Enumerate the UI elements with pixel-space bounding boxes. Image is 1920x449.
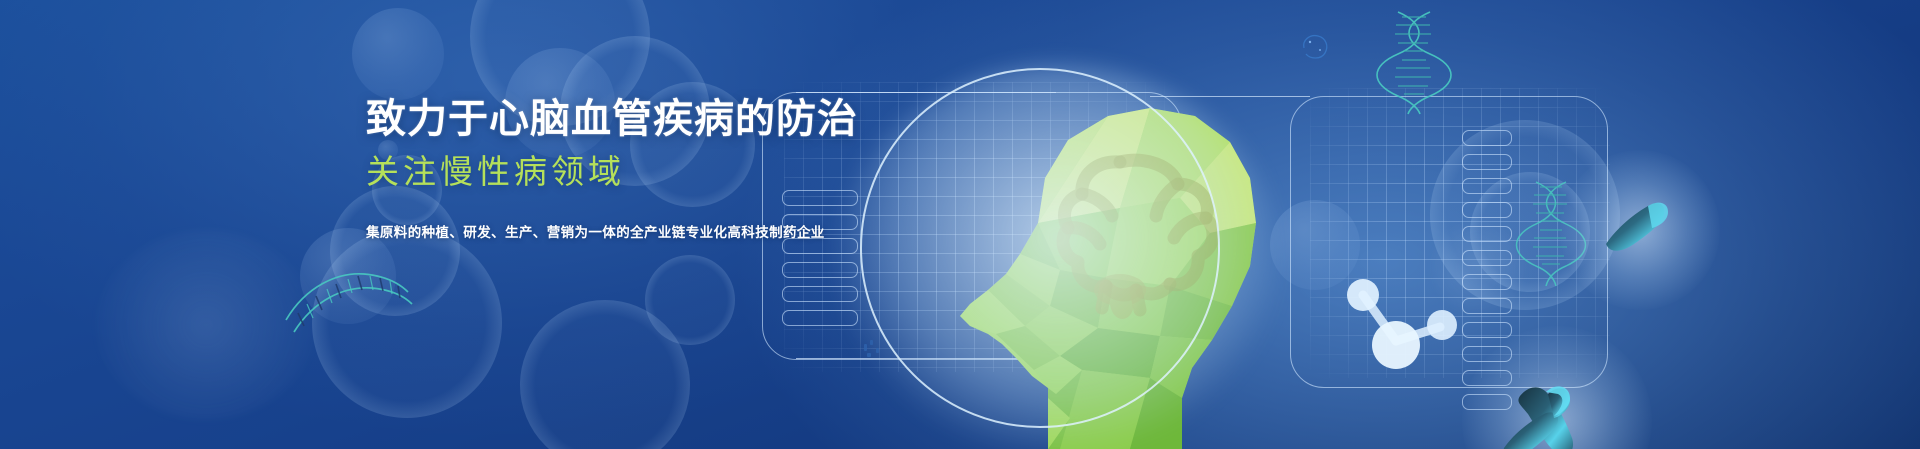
molecule-icon <box>1330 275 1480 395</box>
hud-top-line <box>796 92 1056 93</box>
title-highlight: 心脑血管疾病 <box>489 97 735 141</box>
low-poly-head-graphic <box>820 58 1340 449</box>
hud-bar <box>1462 274 1512 290</box>
head-orbit-ring <box>860 68 1220 428</box>
hud-top-line <box>1150 96 1310 97</box>
bokeh-circle <box>300 228 396 324</box>
particle-cluster-top <box>1296 30 1336 70</box>
hud-bar <box>1462 130 1512 146</box>
hud-bar <box>1462 226 1512 242</box>
chromosome-cell-upper <box>1560 150 1720 310</box>
hud-bar <box>1462 202 1512 218</box>
hud-bar <box>782 310 858 326</box>
dna-icon <box>1380 8 1450 118</box>
head-glow <box>838 64 1278 449</box>
molecule-node <box>1372 321 1420 369</box>
cell-glow <box>1560 150 1720 310</box>
chromosome-icon <box>1462 326 1652 449</box>
dna-helix-cell-left <box>1512 178 1572 288</box>
hud-bar <box>1462 298 1512 314</box>
page-title: 致力于心脑血管疾病的防治 <box>366 96 858 142</box>
hud-bar <box>1462 250 1512 266</box>
hero-banner: 致力于心脑血管疾病的防治 关注慢性病领域 集原料的种植、研发、生产、营销为一体的… <box>0 0 1920 449</box>
cell-glow <box>1462 326 1652 449</box>
bokeh-circle <box>1430 120 1620 310</box>
hud-bar <box>1462 154 1512 170</box>
hud-bar <box>782 262 858 278</box>
brain-overlay <box>1063 160 1213 310</box>
hud-bar <box>1462 370 1512 386</box>
bokeh-circle <box>520 300 690 449</box>
hud-bar <box>1462 394 1512 410</box>
hud-bar <box>1462 322 1512 338</box>
hud-bar-list <box>1462 130 1512 418</box>
dna-helix-bottom-left <box>282 258 412 338</box>
molecule-node <box>1347 279 1379 311</box>
bokeh-circle <box>352 8 444 100</box>
particle-cluster-bottom <box>858 330 898 370</box>
chromosome-cell-lower <box>1462 326 1652 449</box>
bokeh-circle <box>1270 200 1360 290</box>
bokeh-circle <box>1470 172 1590 292</box>
molecule-graphic <box>1330 275 1480 395</box>
page-subtitle: 关注慢性病领域 <box>366 152 858 192</box>
chromosome-icon <box>1560 150 1720 310</box>
hud-frame <box>1290 96 1608 388</box>
bokeh-circle <box>645 255 735 345</box>
dna-helix-top-right <box>1380 8 1450 118</box>
bokeh-circle <box>312 228 502 418</box>
title-primary: 致力于 <box>366 97 489 141</box>
dna-icon <box>1520 180 1584 290</box>
head-polygons <box>820 58 1340 449</box>
dna-icon <box>282 258 412 338</box>
hud-bottom-line <box>796 358 1056 359</box>
particle-icon <box>1296 30 1336 70</box>
hud-bar <box>1462 178 1512 194</box>
particle-icon <box>858 330 898 370</box>
bokeh-circle <box>96 230 316 420</box>
hud-grid <box>1310 88 1610 378</box>
hud-right-panel <box>1300 68 1720 398</box>
title-suffix: 的防治 <box>735 97 858 141</box>
banner-copy: 致力于心脑血管疾病的防治 关注慢性病领域 集原料的种植、研发、生产、营销为一体的… <box>366 96 858 241</box>
hud-bar <box>782 286 858 302</box>
bokeh-circle <box>1432 222 1524 314</box>
page-description: 集原料的种植、研发、生产、营销为一体的全产业链专业化高科技制药企业 <box>366 221 858 241</box>
hud-bar <box>1462 346 1512 362</box>
molecule-node <box>1427 310 1457 340</box>
dna-helix-right <box>1520 180 1584 290</box>
brain-stem <box>1094 274 1146 319</box>
